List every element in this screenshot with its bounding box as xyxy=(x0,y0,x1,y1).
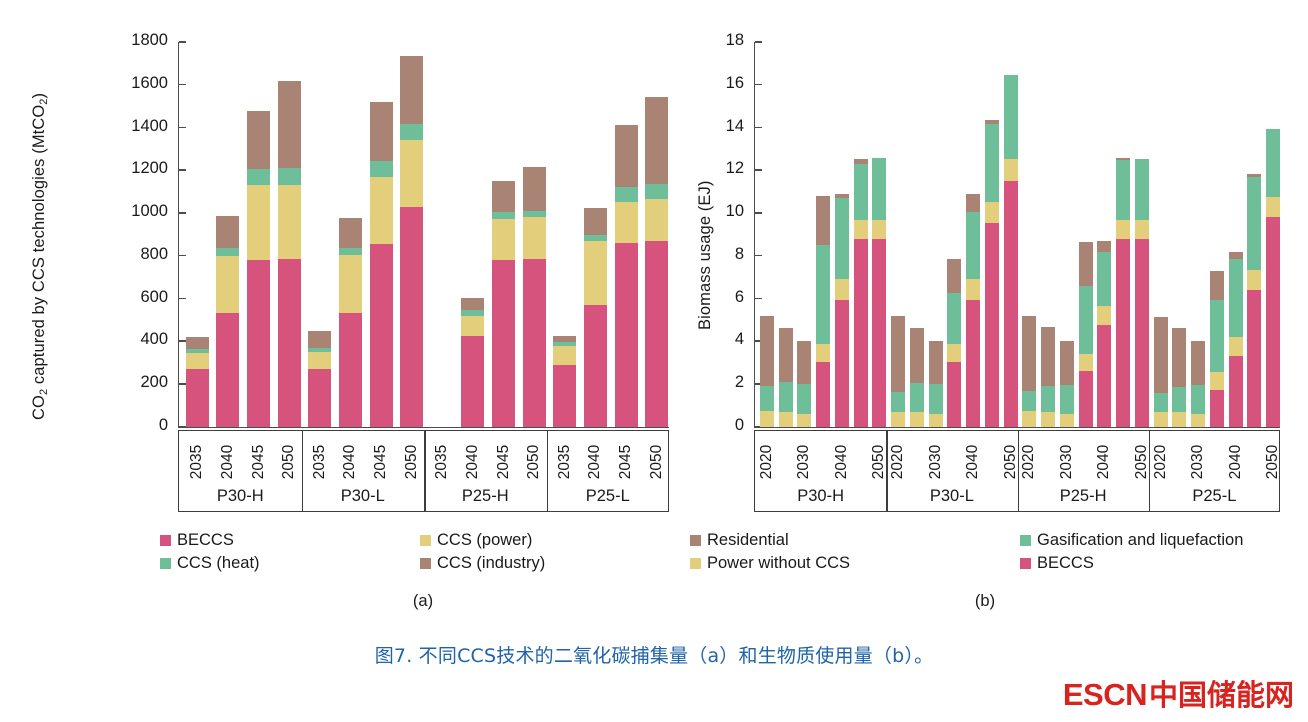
bar-segment-ccs-industry- xyxy=(308,331,331,348)
y-tick-mark xyxy=(755,212,762,214)
bar-segment-ccs-power- xyxy=(553,346,576,365)
panel-b-sub-caption: (b) xyxy=(955,592,1015,611)
bar-segment-residential xyxy=(779,328,793,383)
bar-segment-beccs xyxy=(985,223,999,427)
bar-segment-beccs xyxy=(1210,390,1224,427)
bar-segment-ccs-industry- xyxy=(339,218,362,248)
bar-segment-gasification-and-liquefaction xyxy=(797,384,811,414)
legend-label: BECCS xyxy=(1037,554,1094,573)
y-tick-label: 200 xyxy=(140,373,168,392)
bar-segment-beccs xyxy=(947,362,961,427)
bar-P30-L-2040 xyxy=(339,218,362,427)
bar-P30-L-2025 xyxy=(910,328,924,427)
y-tick-label: 6 xyxy=(735,288,744,307)
bar-segment-power-without-ccs xyxy=(929,414,943,427)
y-tick-label: 800 xyxy=(140,245,168,264)
bar-segment-ccs-industry- xyxy=(370,102,393,161)
bar-P30-H-2030 xyxy=(797,341,811,427)
bar-segment-ccs-power- xyxy=(523,217,546,259)
x-axis-year-label: 2040 xyxy=(1227,432,1245,492)
panel-a-plot-area: 020040060080010001200140016001800 xyxy=(178,42,669,428)
bar-segment-residential xyxy=(985,120,999,124)
bar-segment-beccs xyxy=(461,336,484,427)
panel-a-co2-captured: CO2 captured by CCS technologies (MtCO2)… xyxy=(0,0,690,722)
bar-segment-ccs-heat- xyxy=(308,348,331,352)
bar-segment-ccs-industry- xyxy=(523,167,546,210)
y-tick-label: 18 xyxy=(726,31,744,50)
bar-P30-H-2045 xyxy=(247,111,270,427)
bar-segment-power-without-ccs xyxy=(1060,414,1074,427)
bar-segment-gasification-and-liquefaction xyxy=(1154,393,1168,412)
bar-segment-gasification-and-liquefaction xyxy=(779,382,793,412)
x-axis-year-label: 2030 xyxy=(1058,432,1076,492)
legend-swatch xyxy=(420,535,431,546)
bar-segment-power-without-ccs xyxy=(1191,414,1205,427)
y-tick-label: 0 xyxy=(159,416,168,435)
x-axis-year-label: 2045 xyxy=(372,432,390,492)
legend-label: Residential xyxy=(707,531,789,550)
bar-segment-gasification-and-liquefaction xyxy=(891,392,905,411)
y-tick-label: 1200 xyxy=(131,159,168,178)
bar-segment-gasification-and-liquefaction xyxy=(1210,300,1224,373)
legend-label: CCS (industry) xyxy=(437,554,545,573)
bar-segment-beccs xyxy=(1079,371,1093,427)
bar-segment-ccs-industry- xyxy=(247,111,270,169)
bar-P30-H-2025 xyxy=(779,328,793,427)
y-tick-mark xyxy=(755,169,762,171)
legend-item-beccs: BECCS xyxy=(160,531,234,550)
y-tick-mark xyxy=(755,41,762,43)
y-tick-label: 14 xyxy=(726,117,744,136)
bar-segment-gasification-and-liquefaction xyxy=(947,293,961,343)
bar-P25-H-2045 xyxy=(1116,158,1130,428)
bar-segment-residential xyxy=(760,316,774,386)
x-axis-year-label: 2020 xyxy=(1152,432,1170,492)
legend-swatch xyxy=(690,558,701,569)
bar-segment-ccs-heat- xyxy=(461,310,484,316)
bar-segment-gasification-and-liquefaction xyxy=(1229,259,1243,337)
bar-segment-ccs-power- xyxy=(339,255,362,312)
bar-segment-ccs-power- xyxy=(615,202,638,244)
bar-segment-ccs-power- xyxy=(278,185,301,259)
bar-segment-power-without-ccs xyxy=(1172,412,1186,427)
x-axis-year-label: 2040 xyxy=(586,432,604,492)
panel-b-legend: ResidentialGasification and liquefaction… xyxy=(690,531,1290,581)
bar-segment-power-without-ccs xyxy=(1004,159,1018,181)
bar-P30-H-2050 xyxy=(278,81,301,427)
bar-segment-gasification-and-liquefaction xyxy=(1135,159,1149,220)
bar-segment-gasification-and-liquefaction xyxy=(929,384,943,414)
bar-segment-power-without-ccs xyxy=(1135,220,1149,239)
bar-segment-beccs xyxy=(523,259,546,427)
legend-label: Gasification and liquefaction xyxy=(1037,531,1243,550)
bar-segment-ccs-heat- xyxy=(278,168,301,185)
bar-segment-ccs-heat- xyxy=(523,211,546,217)
y-tick-mark xyxy=(179,255,186,257)
bar-P25-L-2035 xyxy=(553,336,576,427)
panel-b-biomass-usage: Biomass usage (EJ) 024681012141618 20202… xyxy=(655,0,1308,722)
bar-P25-H-2035 xyxy=(1079,242,1093,427)
legend-swatch xyxy=(420,558,431,569)
y-tick-mark xyxy=(179,298,186,300)
x-axis-year-label: 2020 xyxy=(889,432,907,492)
y-tick-mark xyxy=(755,84,762,86)
legend-swatch xyxy=(160,558,171,569)
bar-segment-residential xyxy=(797,341,811,384)
bar-segment-power-without-ccs xyxy=(779,412,793,427)
bar-segment-beccs xyxy=(615,243,638,427)
bar-segment-gasification-and-liquefaction xyxy=(1247,177,1261,270)
bar-segment-power-without-ccs xyxy=(1154,412,1168,427)
x-axis-year-label: 2040 xyxy=(1095,432,1113,492)
bar-segment-ccs-industry- xyxy=(400,56,423,123)
bar-segment-beccs xyxy=(492,260,515,427)
bar-segment-power-without-ccs xyxy=(760,411,774,427)
bar-segment-ccs-industry- xyxy=(186,337,209,349)
bar-segment-gasification-and-liquefaction xyxy=(1097,252,1111,307)
bar-segment-power-without-ccs xyxy=(1116,220,1130,239)
bar-segment-power-without-ccs xyxy=(1229,337,1243,357)
bar-segment-ccs-industry- xyxy=(615,125,638,187)
bar-segment-power-without-ccs xyxy=(1079,354,1093,371)
bar-P30-L-2035 xyxy=(308,331,331,427)
panel-b-plot-area: 024681012141618 xyxy=(754,42,1280,428)
bar-P25-H-2050 xyxy=(523,167,546,427)
bar-segment-ccs-heat- xyxy=(339,248,362,256)
bar-P25-H-2045 xyxy=(492,181,515,427)
y-tick-mark xyxy=(755,255,762,257)
logo-text-cn: 中国储能网 xyxy=(1149,672,1294,714)
bar-P25-H-2040 xyxy=(1097,241,1111,427)
x-axis-year-label: 2040 xyxy=(833,432,851,492)
bar-segment-gasification-and-liquefaction xyxy=(1266,129,1280,197)
y-tick-label: 8 xyxy=(735,245,744,264)
y-tick-label: 1400 xyxy=(131,117,168,136)
bar-segment-beccs xyxy=(1266,217,1280,427)
bar-segment-ccs-power- xyxy=(400,140,423,207)
y-tick-mark xyxy=(179,41,186,43)
legend-swatch xyxy=(690,535,701,546)
figure-root: CO2 captured by CCS technologies (MtCO2)… xyxy=(0,0,1308,722)
y-tick-label: 12 xyxy=(726,159,744,178)
bar-P25-L-2020 xyxy=(1154,317,1168,427)
bar-segment-beccs xyxy=(400,207,423,427)
y-tick-mark xyxy=(179,84,186,86)
bar-segment-gasification-and-liquefaction xyxy=(872,158,886,220)
bar-segment-gasification-and-liquefaction xyxy=(816,245,830,343)
bar-P30-L-2020 xyxy=(891,316,905,427)
bar-segment-residential xyxy=(1022,316,1036,391)
x-axis-group-label-p30-h: P30-H xyxy=(179,487,302,506)
bar-segment-beccs xyxy=(186,369,209,427)
x-axis-year-label: 2040 xyxy=(341,432,359,492)
x-axis-year-label: 2020 xyxy=(1020,432,1038,492)
x-axis-year-label: 2030 xyxy=(1189,432,1207,492)
panel-a-y-axis-label: CO2 captured by CCS technologies (MtCO2) xyxy=(30,93,49,420)
bar-segment-gasification-and-liquefaction xyxy=(1172,387,1186,413)
y-tick-label: 4 xyxy=(735,330,744,349)
bar-segment-ccs-power- xyxy=(186,353,209,370)
escn-logo: ESCN 中国储能网 xyxy=(1063,672,1294,714)
bar-segment-ccs-heat- xyxy=(370,161,393,177)
bar-segment-beccs xyxy=(966,300,980,427)
x-axis-year-label: 2045 xyxy=(495,432,513,492)
x-axis-group-label-p25-l: P25-L xyxy=(1149,487,1280,506)
bar-segment-beccs xyxy=(339,313,362,427)
bar-segment-gasification-and-liquefaction xyxy=(1116,160,1130,220)
bar-segment-gasification-and-liquefaction xyxy=(1022,391,1036,411)
y-tick-label: 16 xyxy=(726,74,744,93)
y-tick-mark xyxy=(179,212,186,214)
bar-segment-gasification-and-liquefaction xyxy=(910,383,924,413)
legend-label: Power without CCS xyxy=(707,554,850,573)
bar-segment-ccs-power- xyxy=(492,219,515,260)
bar-P30-L-2030 xyxy=(929,341,943,427)
x-axis-year-label: 2035 xyxy=(188,432,206,492)
y-tick-label: 10 xyxy=(726,202,744,221)
bar-segment-residential xyxy=(1060,341,1074,385)
bar-segment-residential xyxy=(891,316,905,392)
bar-segment-ccs-heat- xyxy=(584,235,607,241)
bar-segment-ccs-industry- xyxy=(461,298,484,310)
legend-swatch xyxy=(1020,558,1031,569)
bar-P25-H-2050 xyxy=(1135,159,1149,427)
x-axis-year-label: 2030 xyxy=(795,432,813,492)
x-axis-year-label: 2050 xyxy=(403,432,421,492)
bar-segment-gasification-and-liquefaction xyxy=(854,164,868,220)
legend-item-ccs-power-: CCS (power) xyxy=(420,531,532,550)
x-axis-group-label-p30-l: P30-L xyxy=(886,487,1017,506)
bar-P30-L-2040 xyxy=(966,194,980,427)
bar-segment-residential xyxy=(1154,317,1168,393)
bar-segment-residential xyxy=(1097,241,1111,252)
bar-P30-L-2045 xyxy=(370,102,393,427)
bar-P25-L-2025 xyxy=(1172,328,1186,427)
y-tick-label: 2 xyxy=(735,373,744,392)
bar-segment-beccs xyxy=(584,305,607,427)
bar-segment-ccs-heat- xyxy=(615,187,638,202)
x-axis-year-label: 2030 xyxy=(927,432,945,492)
y-tick-label: 0 xyxy=(735,416,744,435)
x-axis-year-label: 2035 xyxy=(556,432,574,492)
y-tick-mark xyxy=(755,127,762,129)
bar-segment-beccs xyxy=(247,260,270,427)
bar-P30-L-2050 xyxy=(400,56,423,427)
y-tick-label: 400 xyxy=(140,330,168,349)
bar-P30-H-2035 xyxy=(186,337,209,427)
bar-P25-H-2020 xyxy=(1022,316,1036,427)
bar-segment-power-without-ccs xyxy=(1041,412,1055,427)
legend-swatch xyxy=(160,535,171,546)
bar-segment-ccs-industry- xyxy=(492,181,515,212)
bar-segment-residential xyxy=(835,194,849,198)
bar-segment-beccs xyxy=(816,362,830,427)
bar-segment-gasification-and-liquefaction xyxy=(1191,385,1205,414)
bar-segment-gasification-and-liquefaction xyxy=(1079,286,1093,354)
bar-segment-ccs-industry- xyxy=(584,208,607,235)
x-axis-year-label: 2050 xyxy=(525,432,543,492)
bar-P30-L-2045 xyxy=(985,120,999,427)
bar-segment-power-without-ccs xyxy=(835,279,849,299)
y-tick-label: 1800 xyxy=(131,31,168,50)
x-axis-year-label: 2035 xyxy=(311,432,329,492)
y-tick-mark xyxy=(179,127,186,129)
bar-P25-L-2040 xyxy=(584,208,607,427)
bar-segment-ccs-power- xyxy=(461,316,484,336)
bar-segment-power-without-ccs xyxy=(947,344,961,362)
bar-segment-residential xyxy=(929,341,943,384)
bar-segment-residential xyxy=(1116,158,1130,160)
bar-segment-power-without-ccs xyxy=(966,279,980,300)
bar-P25-L-2045 xyxy=(1247,174,1261,427)
x-axis-year-label: 2040 xyxy=(219,432,237,492)
bar-segment-ccs-heat- xyxy=(216,248,239,255)
bar-segment-power-without-ccs xyxy=(854,220,868,239)
bar-P30-H-2035 xyxy=(816,196,830,427)
bar-P30-H-2020 xyxy=(760,316,774,427)
bar-segment-ccs-power- xyxy=(370,177,393,244)
x-axis-year-label: 2040 xyxy=(464,432,482,492)
bar-segment-power-without-ccs xyxy=(1266,197,1280,217)
bar-segment-power-without-ccs xyxy=(891,412,905,427)
bar-segment-beccs xyxy=(872,239,886,427)
bar-segment-residential xyxy=(1041,327,1055,386)
x-axis-year-label: 2050 xyxy=(280,432,298,492)
bar-P25-H-2030 xyxy=(1060,341,1074,427)
bar-P30-H-2040 xyxy=(835,194,849,427)
bar-segment-ccs-industry- xyxy=(553,336,576,342)
bar-segment-beccs xyxy=(1229,356,1243,427)
bar-segment-residential xyxy=(816,196,830,245)
bar-segment-gasification-and-liquefaction xyxy=(760,386,774,411)
panel-a-legend: BECCSCCS (power)CCS (heat)CCS (industry) xyxy=(160,531,680,581)
bar-P25-L-2040 xyxy=(1229,252,1243,427)
legend-label: BECCS xyxy=(177,531,234,550)
figure-caption: 图7. 不同CCS技术的二氧化碳捕集量（a）和生物质使用量（b）。 xyxy=(0,641,1308,668)
bar-P25-H-2025 xyxy=(1041,327,1055,427)
panel-b-y-axis-label: Biomass usage (EJ) xyxy=(696,181,715,330)
bar-segment-beccs xyxy=(835,300,849,427)
bar-P25-L-2035 xyxy=(1210,271,1224,427)
bar-segment-gasification-and-liquefaction xyxy=(985,124,999,202)
bar-segment-gasification-and-liquefaction xyxy=(966,212,980,278)
bar-segment-ccs-industry- xyxy=(278,81,301,168)
bar-P25-L-2050 xyxy=(1266,129,1280,427)
bar-segment-ccs-industry- xyxy=(216,216,239,249)
bar-segment-beccs xyxy=(308,369,331,427)
y-tick-label: 1000 xyxy=(131,202,168,221)
x-axis-group-label-p25-l: P25-L xyxy=(547,487,670,506)
bar-segment-beccs xyxy=(1135,239,1149,427)
legend-item-residential: Residential xyxy=(690,531,789,550)
bar-segment-power-without-ccs xyxy=(816,344,830,362)
bar-segment-beccs xyxy=(1097,325,1111,427)
bar-P25-L-2045 xyxy=(615,125,638,427)
bar-P25-H-2040 xyxy=(461,298,484,427)
bar-segment-ccs-power- xyxy=(247,185,270,259)
legend-item-power-without-ccs: Power without CCS xyxy=(690,554,850,573)
bar-segment-gasification-and-liquefaction xyxy=(1041,386,1055,412)
bar-segment-ccs-power- xyxy=(216,256,239,313)
bar-P30-L-2035 xyxy=(947,259,961,427)
bar-segment-residential xyxy=(1172,328,1186,387)
bar-segment-residential xyxy=(966,194,980,212)
bar-segment-beccs xyxy=(1116,239,1130,427)
bar-segment-residential xyxy=(854,159,868,164)
y-tick-label: 600 xyxy=(140,288,168,307)
bar-segment-ccs-heat- xyxy=(247,169,270,186)
bar-segment-power-without-ccs xyxy=(910,412,924,427)
bar-segment-power-without-ccs xyxy=(1022,411,1036,427)
bar-segment-ccs-heat- xyxy=(186,349,209,353)
bar-segment-gasification-and-liquefaction xyxy=(1004,75,1018,159)
bar-segment-power-without-ccs xyxy=(985,202,999,222)
bar-segment-residential xyxy=(947,259,961,293)
bar-segment-residential xyxy=(1229,252,1243,258)
bar-P30-L-2050 xyxy=(1004,75,1018,427)
bar-P25-L-2030 xyxy=(1191,341,1205,427)
legend-item-beccs: BECCS xyxy=(1020,554,1094,573)
x-axis-group-label-p25-h: P25-H xyxy=(1018,487,1149,506)
panel-b-category-axis: 2020203020402050202020302040205020202030… xyxy=(754,430,1280,512)
x-axis-group-label-p25-h: P25-H xyxy=(424,487,547,506)
bar-segment-ccs-heat- xyxy=(553,342,576,346)
bar-segment-power-without-ccs xyxy=(797,414,811,427)
legend-item-ccs-heat-: CCS (heat) xyxy=(160,554,260,573)
bar-segment-residential xyxy=(1247,174,1261,177)
bar-segment-power-without-ccs xyxy=(1247,270,1261,290)
x-axis-year-label: 2050 xyxy=(1264,432,1282,492)
bar-segment-ccs-heat- xyxy=(400,124,423,140)
x-axis-group-label-p30-l: P30-L xyxy=(302,487,425,506)
x-axis-year-label: 2035 xyxy=(433,432,451,492)
bar-segment-beccs xyxy=(278,259,301,427)
bar-segment-power-without-ccs xyxy=(1210,372,1224,389)
bar-segment-power-without-ccs xyxy=(1097,306,1111,325)
bar-segment-beccs xyxy=(553,365,576,427)
y-tick-mark xyxy=(755,298,762,300)
bar-segment-ccs-power- xyxy=(584,241,607,305)
bar-P30-H-2040 xyxy=(216,216,239,427)
bar-segment-beccs xyxy=(216,313,239,427)
legend-label: CCS (power) xyxy=(437,531,532,550)
bar-segment-power-without-ccs xyxy=(872,220,886,239)
bar-segment-gasification-and-liquefaction xyxy=(1060,385,1074,414)
panel-a-sub-caption: (a) xyxy=(393,592,453,611)
bar-segment-ccs-heat- xyxy=(492,212,515,218)
bar-segment-residential xyxy=(1079,242,1093,286)
bar-segment-ccs-power- xyxy=(308,352,331,369)
bar-segment-beccs xyxy=(1247,290,1261,427)
bar-P30-H-2050 xyxy=(872,158,886,428)
logo-text-en: ESCN xyxy=(1063,677,1147,713)
y-tick-mark xyxy=(179,169,186,171)
bar-segment-beccs xyxy=(1004,181,1018,427)
bar-segment-beccs xyxy=(370,244,393,427)
legend-swatch xyxy=(1020,535,1031,546)
panel-a-category-axis: 2035204020452050203520402045205020352040… xyxy=(178,430,669,512)
legend-label: CCS (heat) xyxy=(177,554,260,573)
x-axis-year-label: 2045 xyxy=(250,432,268,492)
bar-segment-residential xyxy=(910,328,924,383)
bar-P30-H-2045 xyxy=(854,159,868,427)
x-axis-year-label: 2040 xyxy=(964,432,982,492)
x-axis-group-label-p30-h: P30-H xyxy=(755,487,886,506)
legend-item-gasification-and-liquefaction: Gasification and liquefaction xyxy=(1020,531,1243,550)
legend-item-ccs-industry-: CCS (industry) xyxy=(420,554,545,573)
bar-segment-beccs xyxy=(854,239,868,427)
bar-segment-gasification-and-liquefaction xyxy=(835,198,849,279)
